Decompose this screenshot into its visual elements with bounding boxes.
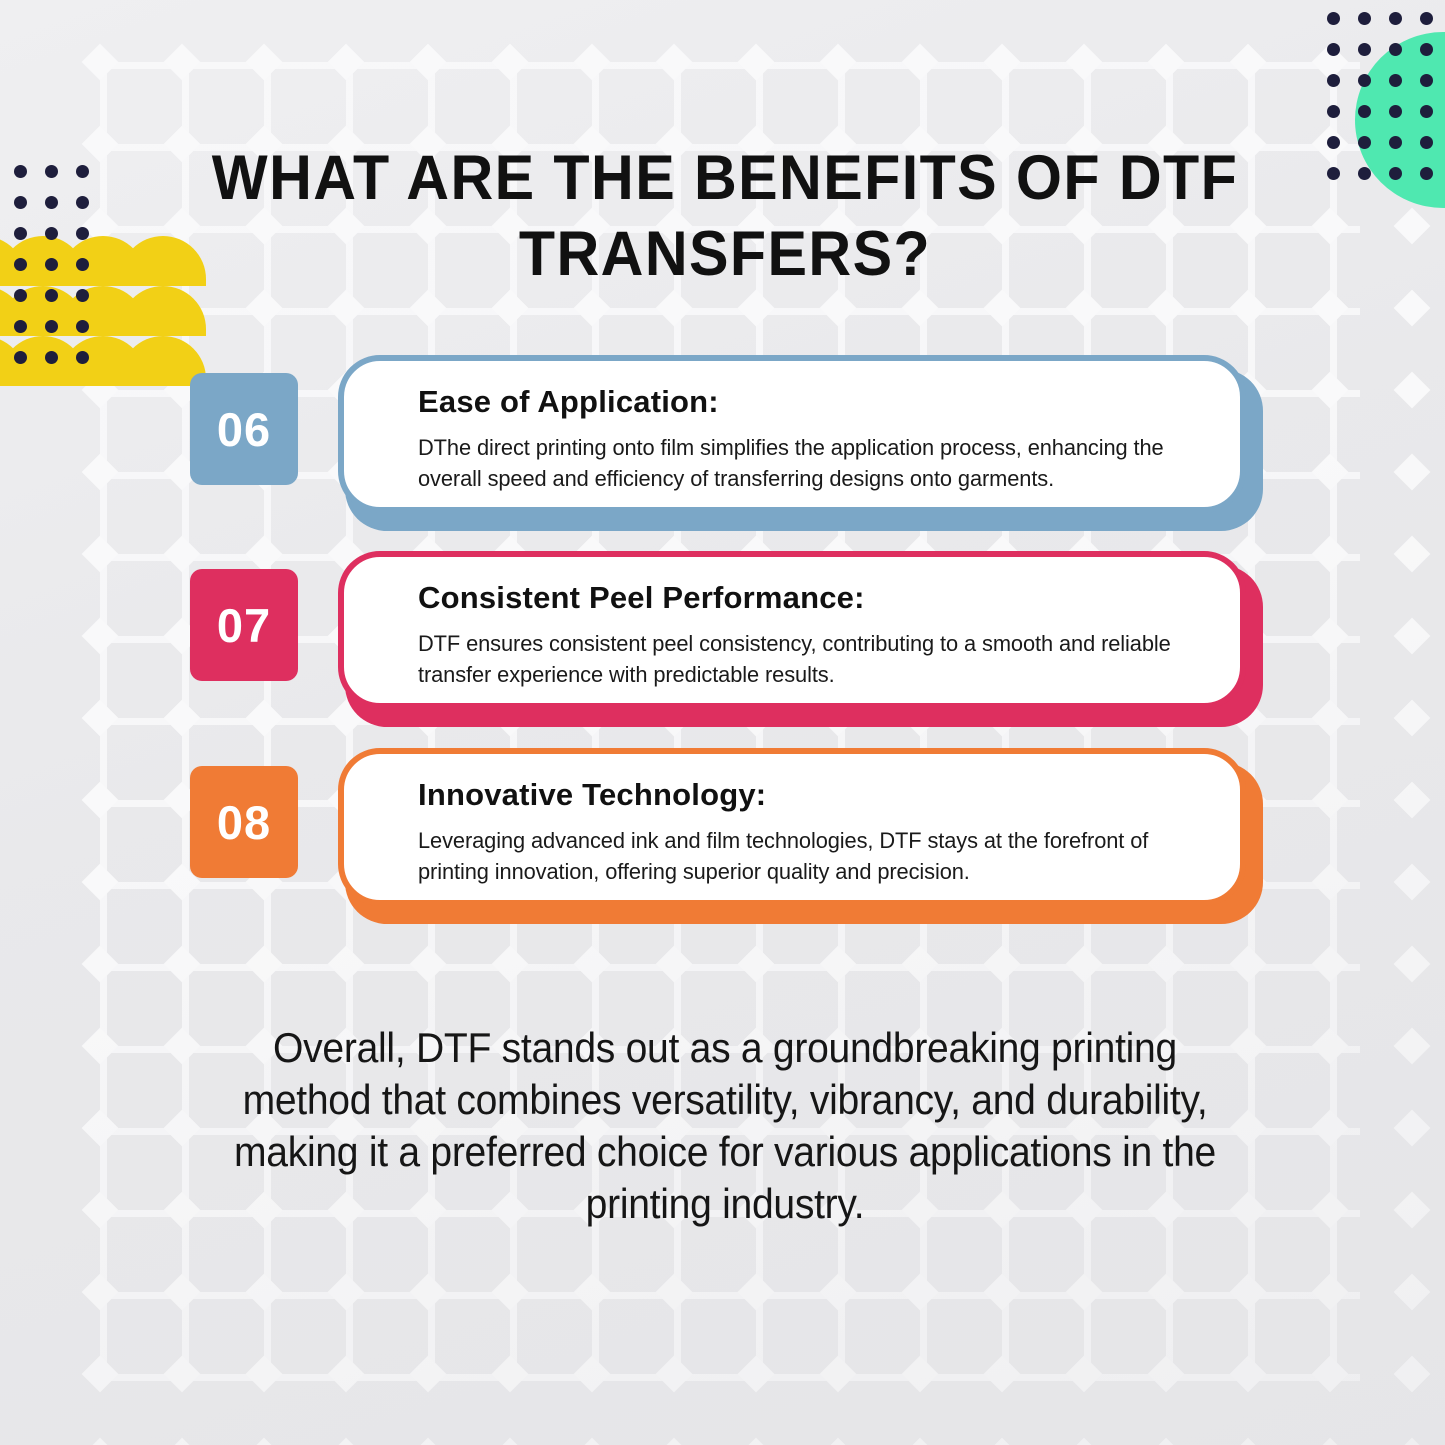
grid-diamond <box>82 1438 119 1445</box>
grid-diamond <box>1394 1028 1431 1065</box>
grid-diamond <box>1066 1438 1103 1445</box>
decorative-dot <box>1358 136 1371 149</box>
number-badge-07: 07 <box>190 569 298 681</box>
decorative-dot <box>1389 74 1402 87</box>
grid-diamond <box>574 1438 611 1445</box>
decorative-dot <box>1327 74 1340 87</box>
decorative-dot <box>1420 43 1433 56</box>
decorative-dot <box>1420 136 1433 149</box>
grid-diamond <box>164 1438 201 1445</box>
card-title-07: Consistent Peel Performance: <box>418 581 1206 615</box>
decorative-dot <box>45 351 58 364</box>
decorative-dot <box>1358 74 1371 87</box>
grid-diamond <box>410 1438 447 1445</box>
grid-diamond <box>1394 700 1431 737</box>
decorative-dot <box>1420 74 1433 87</box>
card-title-06: Ease of Application: <box>418 385 1206 419</box>
card-body-08: Leveraging advanced ink and film technol… <box>418 825 1182 887</box>
number-badge-06: 06 <box>190 373 298 485</box>
decorative-dot <box>1358 167 1371 180</box>
decorative-dot <box>76 320 89 333</box>
decorative-dot <box>1389 167 1402 180</box>
decorative-dot <box>1389 43 1402 56</box>
decorative-dot <box>76 227 89 240</box>
badge-number-08: 08 <box>217 795 271 850</box>
decorative-dot <box>1389 12 1402 25</box>
decorative-dot <box>14 227 27 240</box>
grid-diamond <box>492 1438 529 1445</box>
decorative-dot <box>1327 167 1340 180</box>
decorative-dot <box>1358 105 1371 118</box>
benefit-card-06[interactable]: Ease of Application: DThe direct printin… <box>338 355 1246 513</box>
benefit-card-07[interactable]: Consistent Peel Performance: DTF ensures… <box>338 551 1246 709</box>
grid-diamond <box>1230 1438 1267 1445</box>
decorative-dot <box>1389 136 1402 149</box>
benefit-item-08: 08 Innovative Technology: Leveraging adv… <box>190 748 1265 913</box>
decorative-dot <box>1420 105 1433 118</box>
grid-diamond <box>1394 782 1431 819</box>
closing-paragraph: Overall, DTF stands out as a groundbreak… <box>214 1022 1237 1230</box>
decorative-dot <box>45 227 58 240</box>
card-body-06: DThe direct printing onto film simplifie… <box>418 432 1182 494</box>
teal-circle-decoration <box>1355 32 1445 208</box>
benefit-card-08[interactable]: Innovative Technology: Leveraging advanc… <box>338 748 1246 906</box>
grid-diamond <box>1148 1438 1185 1445</box>
infographic-canvas: WHAT ARE THE BENEFITS OF DTF TRANSFERS? … <box>0 0 1445 1445</box>
card-title-08: Innovative Technology: <box>418 778 1206 812</box>
grid-diamond <box>1394 618 1431 655</box>
decorative-dot <box>76 196 89 209</box>
decorative-dot <box>14 289 27 302</box>
grid-diamond <box>902 1438 939 1445</box>
number-badge-08: 08 <box>190 766 298 878</box>
grid-diamond <box>820 1438 857 1445</box>
decorative-dot <box>1327 43 1340 56</box>
decorative-dot <box>45 320 58 333</box>
decorative-dot <box>1358 43 1371 56</box>
decorative-dot <box>1420 167 1433 180</box>
benefit-item-06: 06 Ease of Application: DThe direct prin… <box>190 355 1265 520</box>
grid-diamond <box>1394 1356 1431 1393</box>
decorative-dot <box>76 258 89 271</box>
benefit-item-07: 07 Consistent Peel Performance: DTF ensu… <box>190 551 1265 716</box>
decorative-dot <box>1420 12 1433 25</box>
grid-diamond <box>328 1438 365 1445</box>
decorative-dot <box>1358 12 1371 25</box>
decorative-dot <box>14 196 27 209</box>
grid-diamond <box>1394 454 1431 491</box>
decorative-dot <box>76 351 89 364</box>
page-title-line-1: WHAT ARE THE BENEFITS OF DTF <box>175 140 1275 216</box>
grid-diamond <box>1394 946 1431 983</box>
grid-diamond <box>656 1438 693 1445</box>
grid-diamond <box>1394 1192 1431 1229</box>
decorative-dot <box>45 165 58 178</box>
decorative-dot <box>76 289 89 302</box>
decorative-dot <box>1327 12 1340 25</box>
decorative-dot <box>76 165 89 178</box>
badge-number-06: 06 <box>217 402 271 457</box>
grid-diamond <box>1394 372 1431 409</box>
decorative-dot <box>45 196 58 209</box>
decorative-dot <box>45 258 58 271</box>
grid-diamond <box>1394 290 1431 327</box>
grid-diamond <box>1394 1274 1431 1311</box>
grid-diamond <box>1394 1110 1431 1147</box>
decorative-dot <box>14 258 27 271</box>
page-title: WHAT ARE THE BENEFITS OF DTF TRANSFERS? <box>175 140 1275 292</box>
decorative-dot <box>14 320 27 333</box>
grid-diamond <box>246 1438 283 1445</box>
grid-diamond <box>1394 1438 1431 1445</box>
page-title-line-2: TRANSFERS? <box>175 216 1275 292</box>
decorative-dot <box>1389 105 1402 118</box>
grid-diamond <box>738 1438 775 1445</box>
decorative-dot <box>1327 136 1340 149</box>
grid-diamond <box>1312 1438 1349 1445</box>
grid-diamond <box>1394 536 1431 573</box>
grid-diamond <box>1394 208 1431 245</box>
grid-diamond <box>984 1438 1021 1445</box>
card-body-07: DTF ensures consistent peel consistency,… <box>418 628 1182 690</box>
decorative-dot <box>14 165 27 178</box>
grid-diamond <box>1394 864 1431 901</box>
decorative-dot <box>14 351 27 364</box>
decorative-dot <box>45 289 58 302</box>
badge-number-07: 07 <box>217 598 271 653</box>
decorative-dot <box>1327 105 1340 118</box>
